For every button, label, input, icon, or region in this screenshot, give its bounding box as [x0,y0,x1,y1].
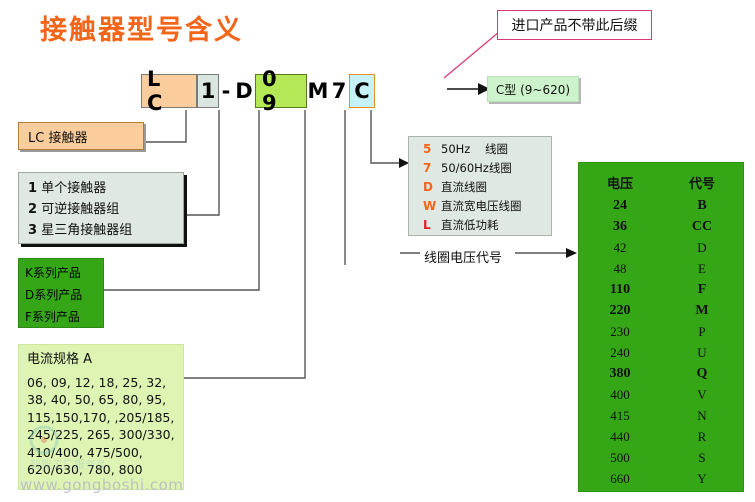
svg-text:智能工厂服务商: 智能工厂服务商 [30,457,104,471]
cell-code: CC [661,219,743,235]
series-item: F系列产品 [25,306,103,328]
cell-voltage: 400 [579,387,661,403]
type-item-num: 1 [28,181,37,196]
cell-code: Y [661,471,743,487]
coil-code: 5 [423,140,441,159]
type-item: 2 可逆接触器组 [28,199,183,220]
cell-code: Q [661,366,743,382]
cell-voltage: 415 [579,408,661,424]
cell-code: S [661,450,743,466]
series-item: K系列产品 [25,262,103,284]
coil-legend-row: L 直流低功耗 [409,216,551,235]
table-row: 660Y [579,468,743,489]
code-segment-coil: 7 [329,74,349,108]
cell-code: D [661,240,743,256]
coil-code: W [423,197,441,216]
cell-code: N [661,408,743,424]
coil-desc: 直流低功耗 [441,216,499,235]
code-segment-brand: L C [141,74,197,108]
cell-voltage: 240 [579,345,661,361]
coil-legend: 5 50Hz线圈 7 50/60Hz线圈 D 直流线圈 W 直流宽电压线圈 L … [408,136,552,236]
table-header-code: 代号 [661,173,743,192]
cell-code: E [661,261,743,277]
table-row: 220M [579,300,743,321]
code-segment-series: D [233,74,255,108]
watermark-text: www.gongboshi.com [20,476,183,494]
cell-voltage: 440 [579,429,661,445]
type-item: 3 星三角接触器组 [28,220,183,241]
page-title: 接触器型号含义 [40,8,243,47]
table-row: 230P [579,321,743,342]
table-header-voltage: 电压 [579,173,661,192]
code-segment-type: 1 [197,74,219,108]
table-row: 110F [579,279,743,300]
model-code: L C 1 - D 0 9 M 7 C [141,73,375,109]
cell-voltage: 380 [579,366,661,382]
table-row: 240U [579,342,743,363]
cell-code: R [661,429,743,445]
type-item-num: 2 [28,202,37,217]
coil-legend-row: 7 50/60Hz线圈 [409,159,551,178]
import-note: 进口产品不带此后缀 [497,10,652,40]
cell-code: F [661,282,743,298]
table-row: 380Q [579,363,743,384]
cell-voltage: 220 [579,303,661,319]
code-segment-m: M [307,74,329,108]
cell-voltage: 230 [579,324,661,340]
cell-voltage: 48 [579,261,661,277]
type-item: 1 单个接触器 [28,178,183,199]
coil-desc: 直流线圈 [441,178,487,197]
cell-voltage: 660 [579,471,661,487]
code-segment-dash: - [219,74,233,108]
ctype-callout-label: C型 (9~620) [496,81,570,98]
table-row: 415N [579,405,743,426]
cell-code: P [661,324,743,340]
brand-callout: LC 接触器 [18,122,144,150]
table-row: 36CC [579,216,743,237]
cell-code: M [661,303,743,319]
series-item: D系列产品 [25,284,103,306]
diagram-canvas: 接触器型号含义 [0,0,755,502]
table-row: 440R [579,426,743,447]
cell-code: V [661,387,743,403]
cell-voltage: 42 [579,240,661,256]
current-line: 06, 09, 12, 18, 25, 32, [27,374,183,392]
cell-voltage: 36 [579,219,661,235]
cell-code: B [661,198,743,214]
cell-voltage: 110 [579,282,661,298]
watermark-logo-icon: 智能工厂服务商 [28,424,104,480]
coil-desc: 50/60Hz线圈 [441,159,512,178]
current-line: 38, 40, 50, 65, 80, 95, [27,391,183,409]
cell-voltage: 24 [579,198,661,214]
code-segment-suffix: C [349,74,375,108]
table-header-row: 电压 代号 [579,169,743,195]
import-note-label: 进口产品不带此后缀 [512,15,638,35]
type-item-label: 可逆接触器组 [41,202,119,217]
table-row: 48E [579,258,743,279]
table-row: 400V [579,384,743,405]
table-row: 500S [579,447,743,468]
cell-code: U [661,345,743,361]
brand-callout-label: LC 接触器 [28,127,87,146]
coil-code: D [423,178,441,197]
coil-legend-row: D 直流线圈 [409,178,551,197]
coil-desc: 直流宽电压线圈 [441,197,522,216]
coil-code: L [423,216,441,235]
type-callout: 1 单个接触器 2 可逆接触器组 3 星三角接触器组 [18,172,184,244]
table-row: 24B [579,195,743,216]
series-callout: K系列产品 D系列产品 F系列产品 [18,258,104,328]
type-item-num: 3 [28,223,37,238]
coil-desc: 50Hz线圈 [441,140,508,159]
type-item-label: 单个接触器 [41,181,106,196]
coil-voltage-code-label: 线圈电压代号 [424,247,502,266]
coil-legend-row: W 直流宽电压线圈 [409,197,551,216]
code-segment-current: 0 9 [255,74,307,108]
type-item-label: 星三角接触器组 [41,223,132,238]
coil-legend-row: 5 50Hz线圈 [409,140,551,159]
coil-code: 7 [423,159,441,178]
cell-voltage: 500 [579,450,661,466]
voltage-code-table: 电压 代号 24B 36CC 42D 48E 110F 220M 230P 24… [578,162,744,492]
current-callout-header: 电流规格 A [27,351,183,369]
ctype-callout: C型 (9~620) [487,76,579,102]
table-row: 42D [579,237,743,258]
